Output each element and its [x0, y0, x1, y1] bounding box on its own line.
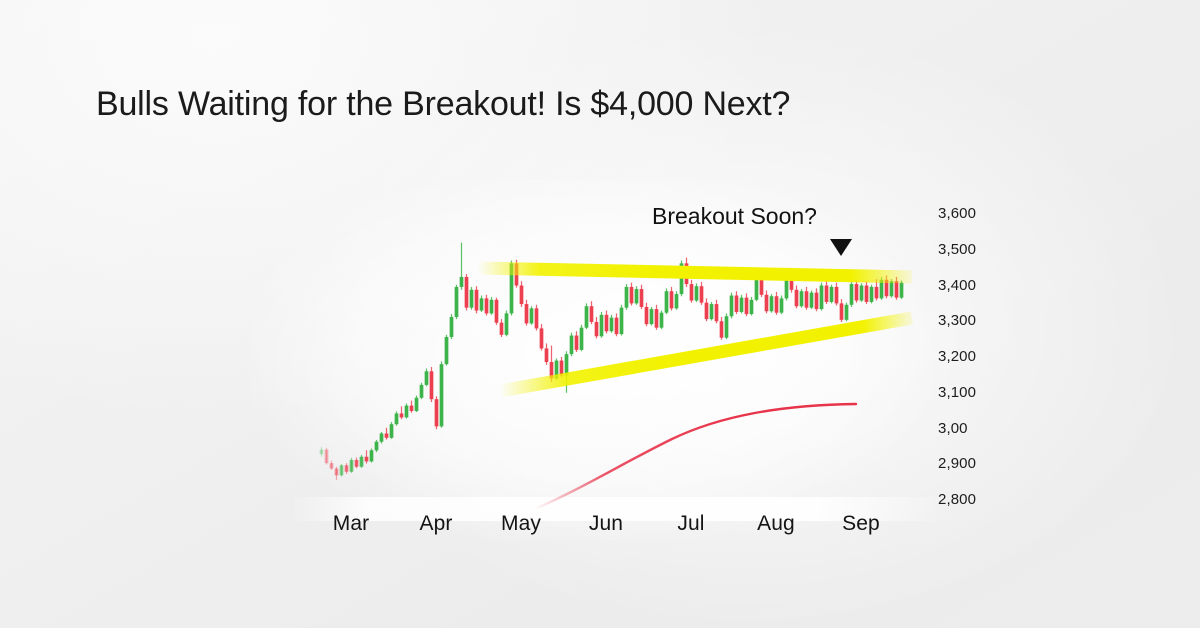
upper-resistance-trendline [478, 268, 912, 277]
candle-body-down [335, 469, 339, 476]
moving-average-line [535, 404, 856, 509]
candle-body-up [755, 278, 759, 299]
candle-body-up [870, 287, 874, 302]
y-axis-tick-3100: 3,100 [938, 384, 976, 401]
candle-body-up [440, 364, 444, 426]
candle-body-up [350, 460, 354, 472]
y-axis-tick-3500: 3,500 [938, 241, 976, 258]
candle-body-down [630, 287, 634, 303]
candle-body-up [530, 308, 534, 323]
candle-body-down [760, 278, 764, 294]
down-triangle-icon [830, 239, 852, 256]
x-axis-tick-apr: Apr [420, 512, 453, 536]
candle-body-up [450, 317, 454, 337]
candle-body-up [565, 354, 569, 375]
x-axis-tick-aug: Aug [757, 512, 795, 536]
candle-body-up [710, 304, 714, 319]
infographic-canvas: Bulls Waiting for the Breakout! Is $4,00… [0, 0, 1200, 628]
candle-body-down [615, 318, 619, 334]
lower-support-trendline [500, 318, 912, 391]
candle-body-up [860, 286, 864, 301]
candle-body-up [445, 337, 449, 364]
candle-body-down [330, 463, 334, 468]
candle-body-down [595, 322, 599, 336]
candle-body-down [735, 296, 739, 312]
candle-body-up [810, 293, 814, 308]
candle-body-up [340, 465, 344, 475]
candle-body-up [380, 434, 384, 442]
candle-body-down [720, 321, 724, 337]
candle-body-up [780, 298, 784, 312]
candle-body-up [480, 298, 484, 310]
x-axis-tick-sep: Sep [842, 512, 880, 536]
candle-body-up [725, 316, 729, 337]
candle-body-up [370, 450, 374, 461]
candle-body-down [355, 460, 359, 467]
candle-body-down [575, 336, 579, 350]
y-axis-tick-2900: 2,900 [938, 455, 976, 472]
candle-body-down [605, 315, 609, 331]
candle-body-up [490, 300, 494, 314]
candle-body-down [400, 413, 404, 417]
candle-body-up [470, 290, 474, 308]
candle-body-up [390, 424, 394, 438]
candle-body-up [830, 287, 834, 302]
candle-body-up [675, 294, 679, 308]
x-axis-tick-may: May [501, 512, 541, 536]
candle-body-up [600, 315, 604, 336]
candle-body-down [835, 287, 839, 303]
candle-body-down [495, 300, 499, 323]
candle-body-down [805, 291, 809, 307]
y-axis-tick-2800: 2,800 [938, 491, 976, 508]
x-axis-tick-jul: Jul [677, 512, 704, 536]
candle-body-down [745, 298, 749, 314]
candle-body-up [455, 287, 459, 317]
candle-body-down [465, 277, 469, 308]
candle-body-down [825, 286, 829, 302]
candle-body-down [540, 328, 544, 348]
candle-body-up [770, 296, 774, 311]
candle-body-up [320, 450, 324, 455]
candle-body-up [460, 277, 464, 287]
candle-body-down [865, 286, 869, 302]
candle-body-up [360, 457, 364, 467]
x-axis-tick-mar: Mar [333, 512, 369, 536]
candle-body-up [890, 281, 894, 296]
candle-body-down [525, 304, 529, 323]
candle-body-up [585, 306, 589, 327]
candle-body-up [650, 309, 654, 324]
x-axis-tick-jun: Jun [589, 512, 623, 536]
candle-body-up [845, 305, 849, 320]
candle-body-down [640, 289, 644, 307]
candle-body-up [375, 442, 379, 451]
y-axis-tick-3200: 3,200 [938, 348, 976, 365]
candle-body-down [855, 284, 859, 300]
candle-body-down [385, 434, 389, 438]
candle-body-down [520, 286, 524, 305]
candle-body-up [850, 284, 854, 305]
candle-body-up [695, 286, 699, 300]
y-axis-tick-3000: 3,00 [938, 420, 968, 437]
candle-body-down [485, 298, 489, 313]
candle-body-down [475, 290, 479, 311]
candle-body-down [410, 406, 414, 411]
y-axis-tick-3600: 3,600 [938, 205, 976, 222]
candle-body-up [505, 313, 509, 334]
candle-body-down [715, 304, 719, 321]
candle-body-up [665, 291, 669, 312]
candle-body-down [325, 450, 329, 464]
candle-body-down [840, 303, 844, 319]
candle-body-down [795, 290, 799, 306]
candle-body-up [420, 385, 424, 398]
y-axis-tick-3400: 3,400 [938, 277, 976, 294]
candle-body-up [395, 413, 399, 424]
candle-body-up [730, 296, 734, 317]
candle-body-down [895, 281, 899, 297]
candle-body-down [545, 348, 549, 362]
candle-body-down [500, 323, 504, 335]
candle-body-down [655, 309, 659, 328]
candle-body-down [690, 284, 694, 300]
candle-body-up [580, 328, 584, 350]
candle-body-down [700, 286, 704, 302]
candle-body-up [740, 298, 744, 312]
candle-body-up [610, 318, 614, 332]
candle-body-up [820, 286, 824, 310]
candle-body-up [425, 371, 429, 385]
candle-body-down [535, 308, 539, 328]
candle-body-up [660, 313, 664, 328]
candle-body-down [645, 307, 649, 324]
candle-body-up [635, 289, 639, 303]
candle-body-up [800, 291, 804, 306]
candle-body-down [775, 296, 779, 312]
candle-body-down [590, 306, 594, 322]
candle-body-up [620, 308, 624, 334]
candle-body-down [765, 295, 769, 311]
candle-body-down [365, 457, 369, 462]
breakout-annotation-label: Breakout Soon? [652, 203, 817, 230]
candle-body-down [670, 291, 674, 308]
candle-body-down [705, 303, 709, 319]
candle-body-up [900, 283, 904, 298]
y-axis-tick-3300: 3,300 [938, 312, 976, 329]
candle-body-up [570, 336, 574, 355]
candle-body-down [435, 399, 439, 426]
candle-body-down [875, 287, 879, 298]
candle-body-up [625, 287, 629, 308]
candle-body-down [345, 465, 349, 471]
candle-body-up [415, 398, 419, 411]
candle-body-down [430, 371, 434, 399]
candle-body-up [405, 406, 409, 418]
candle-body-down [815, 293, 819, 309]
candle-body-up [750, 300, 754, 314]
